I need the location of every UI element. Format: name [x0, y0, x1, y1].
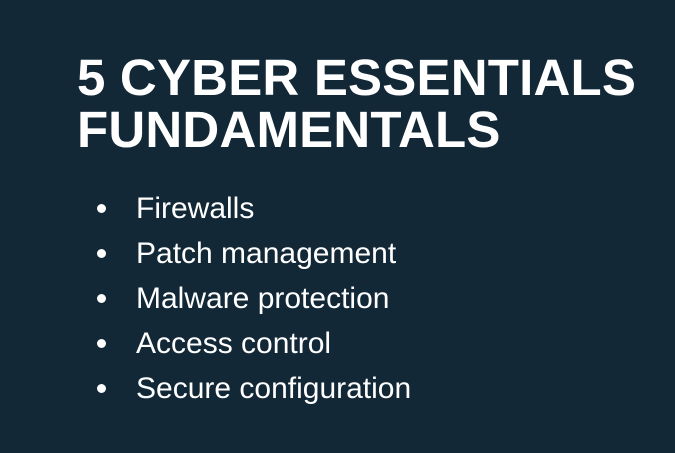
list-item: Firewalls — [77, 186, 637, 231]
bullet-dot-icon — [97, 294, 106, 303]
list-item: Malware protection — [77, 276, 637, 321]
list-item: Patch management — [77, 231, 637, 276]
list-item-label: Malware protection — [136, 282, 389, 316]
bullet-dot-icon — [97, 249, 106, 258]
list-item: Secure configuration — [77, 366, 637, 411]
list-item-label: Firewalls — [136, 192, 254, 226]
bullet-dot-icon — [97, 204, 106, 213]
list-item-label: Secure configuration — [136, 372, 411, 406]
list-item-label: Patch management — [136, 237, 396, 271]
bullet-dot-icon — [97, 384, 106, 393]
slide-title: 5 CYBER ESSENTIALS FUNDAMENTALS — [77, 52, 637, 156]
bullet-dot-icon — [97, 339, 106, 348]
list-item-label: Access control — [136, 327, 331, 361]
bullet-list: Firewalls Patch management Malware prote… — [77, 186, 637, 411]
presentation-slide: 5 CYBER ESSENTIALS FUNDAMENTALS Firewall… — [0, 0, 675, 453]
list-item: Access control — [77, 321, 637, 366]
